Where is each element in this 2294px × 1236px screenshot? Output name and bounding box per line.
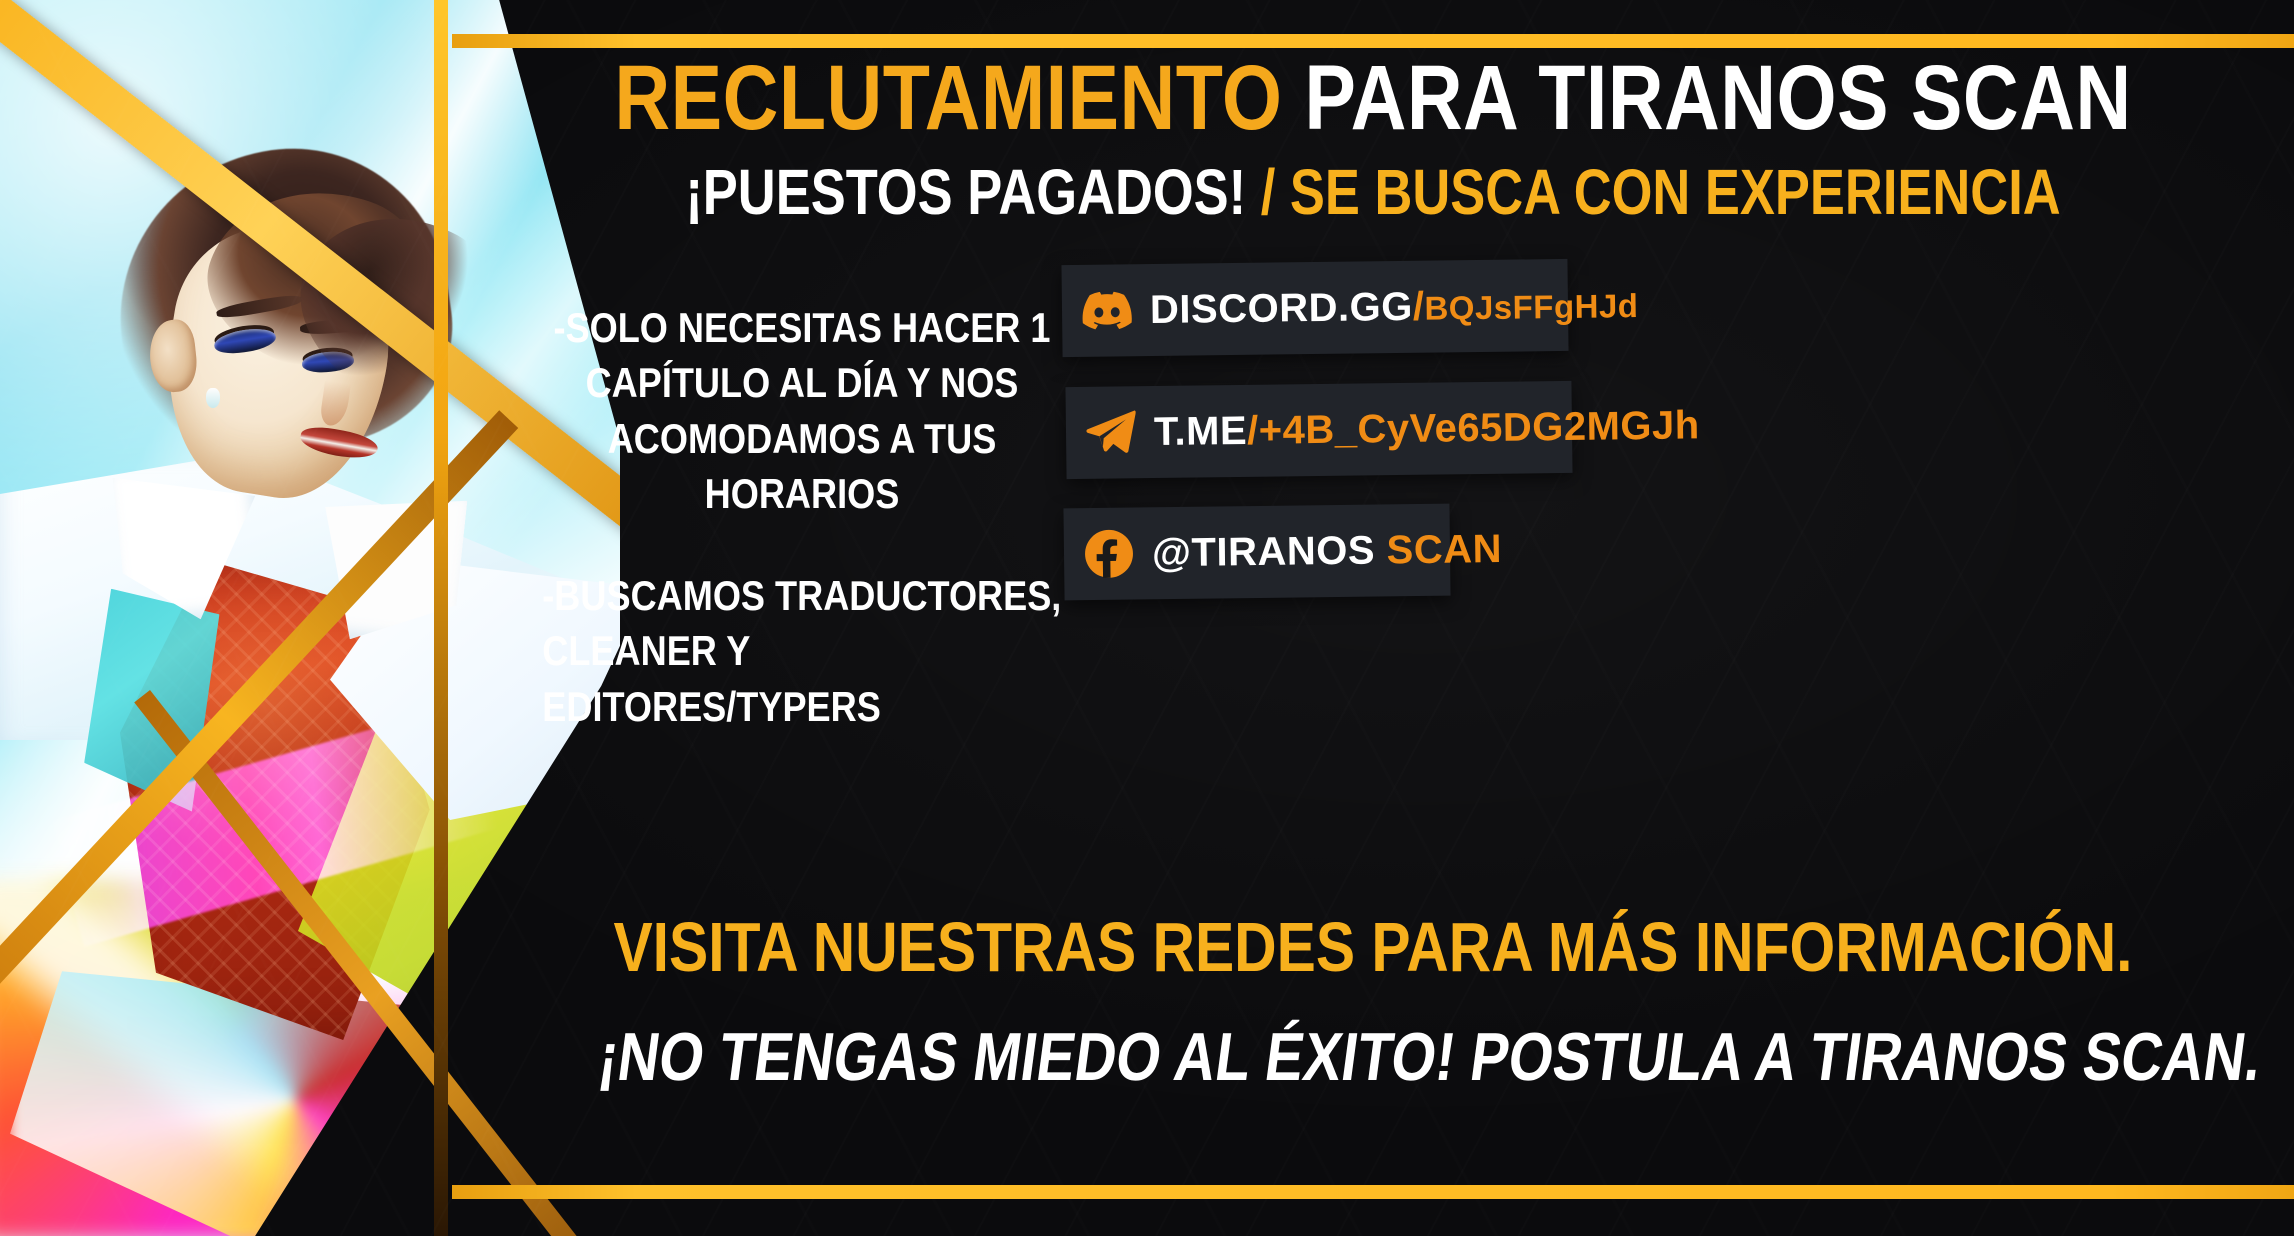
facebook-handle: @TIRANOS (1152, 528, 1376, 575)
telegram-link-text: T.ME/+4B_CyVe65DG2MGJh (1154, 403, 1700, 455)
telegram-icon (1084, 405, 1139, 460)
discord-domain: DISCORD.GG (1150, 284, 1413, 331)
subtitle: ¡PUESTOS PAGADOS! / SE BUSCA CON EXPERIE… (618, 160, 2128, 224)
discord-invite-code: BQJsFFgHJd (1424, 287, 1638, 327)
discord-link-text: DISCORD.GG/BQJsFFgHJd (1150, 282, 1639, 333)
recruitment-banner: RECLUTAMIENTO PARA TIRANOS SCAN ¡PUESTOS… (0, 0, 2294, 1236)
discord-icon (1080, 283, 1135, 338)
telegram-contact-card[interactable]: T.ME/+4B_CyVe65DG2MGJh (1065, 381, 1572, 479)
call-to-action: VISITA NUESTRAS REDES PARA MÁS INFORMACI… (452, 905, 2294, 1099)
contact-cards: DISCORD.GG/BQJsFFgHJd T.ME/+4B_CyVe65DG2… (1062, 262, 1582, 628)
list-item: -BUSCAMOS TRADUCTORES, CLEANER Y EDITORE… (527, 568, 1077, 734)
discord-contact-card[interactable]: DISCORD.GG/BQJsFFgHJd (1061, 259, 1568, 357)
page-title: RECLUTAMIENTO PARA TIRANOS SCAN (599, 52, 2146, 144)
content-area: RECLUTAMIENTO PARA TIRANOS SCAN ¡PUESTOS… (452, 0, 2294, 1236)
facebook-handle-text: @TIRANOS SCAN (1152, 527, 1503, 576)
telegram-domain: T.ME (1154, 408, 1248, 453)
gold-vertical-divider (434, 0, 448, 1236)
headline-highlight: RECLUTAMIENTO (614, 47, 1282, 149)
artwork-sweat-drop (206, 388, 220, 408)
subtitle-experience: / SE BUSCA CON EXPERIENCIA (1261, 156, 2061, 228)
headline-rest: PARA TIRANOS SCAN (1304, 47, 2131, 149)
facebook-contact-card[interactable]: @TIRANOS SCAN (1063, 504, 1450, 601)
facebook-handle-suffix: SCAN (1386, 527, 1502, 572)
list-item: -SOLO NECESITAS HACER 1 CAPÍTULO AL DÍA … (527, 300, 1077, 522)
subtitle-paid: ¡PUESTOS PAGADOS! (685, 156, 1246, 228)
facebook-icon (1082, 526, 1137, 581)
cta-line-1: VISITA NUESTRAS REDES PARA MÁS INFORMACI… (599, 905, 2146, 990)
cta-line-2: ¡NO TENGAS MIEDO AL ÉXITO! POSTULA A TIR… (594, 1016, 2152, 1099)
telegram-invite-code: +4B_CyVe65DG2MGJh (1258, 403, 1699, 452)
requirements-list: -SOLO NECESITAS HACER 1 CAPÍTULO AL DÍA … (482, 300, 1122, 734)
telegram-separator: / (1247, 408, 1259, 452)
